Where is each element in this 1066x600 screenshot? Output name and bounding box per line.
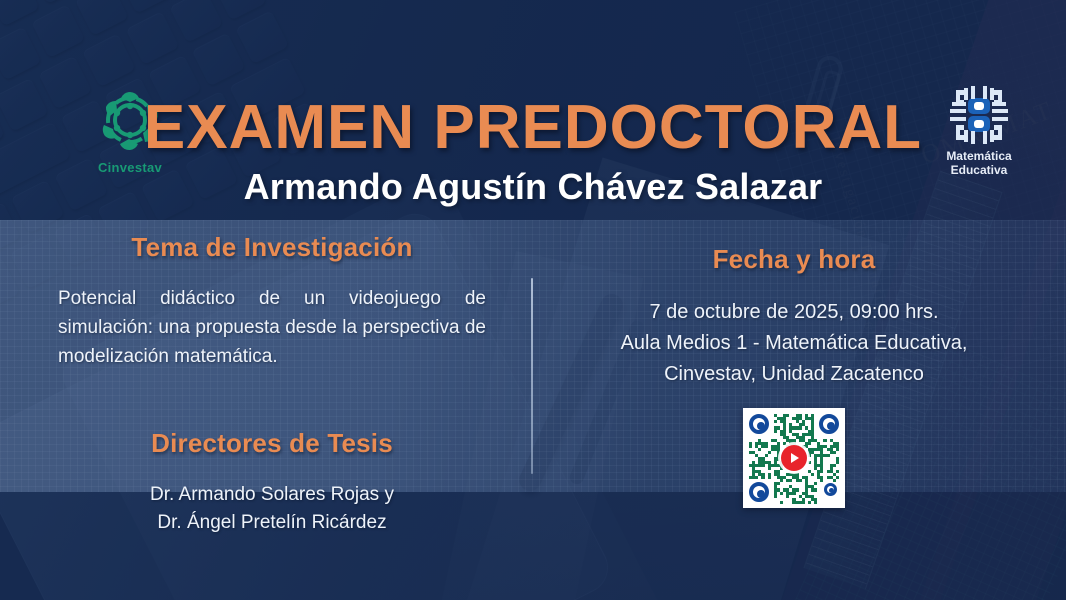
left-column: Tema de Investigación Potencial didáctic… xyxy=(36,232,508,538)
qr-code[interactable] xyxy=(743,408,845,508)
advisor-2: Dr. Ángel Pretelín Ricárdez xyxy=(36,509,508,538)
qr-modules xyxy=(749,414,839,502)
qr-finder-bottom-left xyxy=(749,482,769,502)
qr-finder-top-left xyxy=(749,414,769,434)
qr-finder-top-right xyxy=(819,414,839,434)
topic-text: Potencial didáctico de un videojuego de … xyxy=(36,285,508,372)
datetime-heading: Fecha y hora xyxy=(556,244,1032,275)
datetime-details: 7 de octubre de 2025, 09:00 hrs. Aula Me… xyxy=(556,297,1032,390)
advisors-list: Dr. Armando Solares Rojas y Dr. Ángel Pr… xyxy=(36,481,508,538)
presenter-name: Armando Agustín Chávez Salazar xyxy=(0,166,1066,208)
advisors-heading: Directores de Tesis xyxy=(36,428,508,459)
youtube-play-icon xyxy=(781,445,807,471)
qr-alignment-pattern xyxy=(824,483,837,496)
advisor-1: Dr. Armando Solares Rojas y xyxy=(36,481,508,510)
right-column: Fecha y hora 7 de octubre de 2025, 09:00… xyxy=(556,244,1032,508)
poster-title: EXAMEN PREDOCTORAL xyxy=(0,92,1066,163)
column-divider xyxy=(531,278,533,474)
venue-line-2: Cinvestav, Unidad Zacatenco xyxy=(556,359,1032,390)
topic-heading: Tema de Investigación xyxy=(36,232,508,263)
date-line: 7 de octubre de 2025, 09:00 hrs. xyxy=(556,297,1032,328)
venue-line-1: Aula Medios 1 - Matemática Educativa, xyxy=(556,328,1032,359)
predoctoral-exam-poster: OMNIMAT Investigación Primaria 61.9 88 0… xyxy=(0,0,1066,600)
